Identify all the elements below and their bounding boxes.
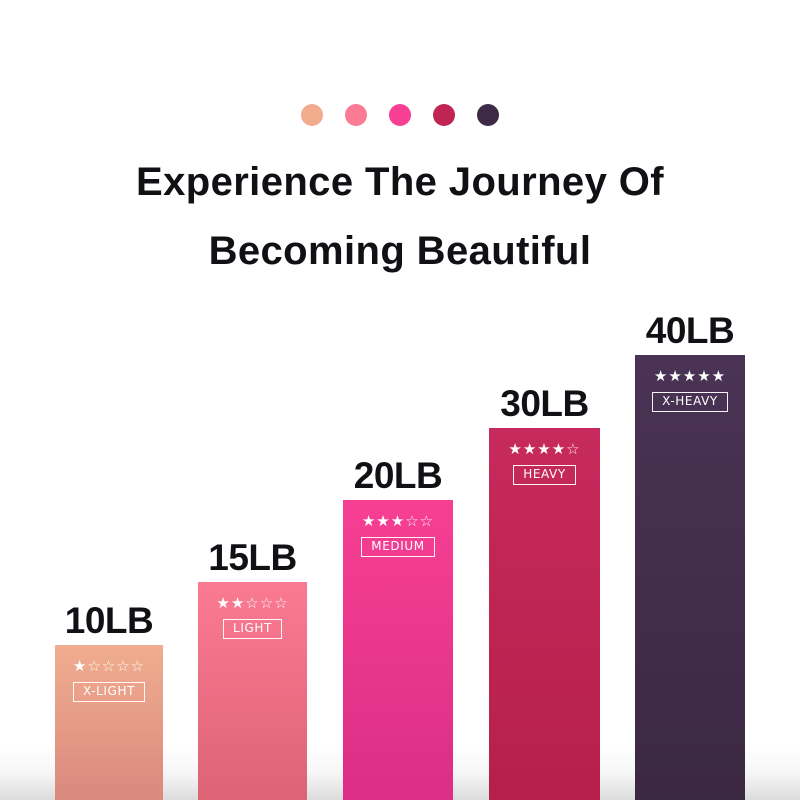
bar-weight-label: 10LB	[55, 599, 163, 643]
resistance-band-bar-chart: 10LB★☆☆☆☆X-LIGHT15LB★★☆☆☆LIGHT20LB★★★☆☆M…	[0, 0, 800, 800]
bar-fill: ★★★★★X-HEAVY	[635, 355, 745, 800]
star-filled-icon: ★	[654, 369, 668, 384]
level-badge-wrap: LIGHT	[198, 619, 307, 639]
star-rating: ★★☆☆☆	[198, 596, 307, 611]
level-badge-wrap: X-LIGHT	[55, 682, 163, 702]
star-filled-icon: ★	[376, 514, 390, 529]
level-badge-wrap: HEAVY	[489, 465, 600, 485]
bar-weight-label: 30LB	[489, 382, 600, 426]
bar-weight-label: 15LB	[198, 536, 307, 580]
star-rating: ★★★☆☆	[343, 514, 453, 529]
star-filled-icon: ★	[231, 596, 245, 611]
level-badge: X-LIGHT	[73, 682, 145, 702]
bar-group-20lb: 20LB★★★☆☆MEDIUM	[343, 500, 453, 800]
star-filled-icon: ★	[216, 596, 230, 611]
bar-group-10lb: 10LB★☆☆☆☆X-LIGHT	[55, 645, 163, 800]
star-filled-icon: ★	[523, 442, 537, 457]
bar-group-40lb: 40LB★★★★★X-HEAVY	[635, 355, 745, 800]
star-rating: ★★★★★	[635, 369, 745, 384]
bar-group-15lb: 15LB★★☆☆☆LIGHT	[198, 582, 307, 800]
level-badge: MEDIUM	[361, 537, 434, 557]
level-badge-wrap: MEDIUM	[343, 537, 453, 557]
bar-fill: ★★★★☆HEAVY	[489, 428, 600, 800]
star-filled-icon: ★	[508, 442, 522, 457]
star-hollow-icon: ☆	[116, 659, 130, 674]
star-hollow-icon: ☆	[566, 442, 580, 457]
star-filled-icon: ★	[552, 442, 566, 457]
bar-group-30lb: 30LB★★★★☆HEAVY	[489, 428, 600, 800]
star-hollow-icon: ☆	[102, 659, 116, 674]
level-badge: X-HEAVY	[652, 392, 728, 412]
bar-fill: ★★☆☆☆LIGHT	[198, 582, 307, 800]
star-hollow-icon: ☆	[260, 596, 274, 611]
bar-weight-label: 20LB	[343, 454, 453, 498]
star-filled-icon: ★	[537, 442, 551, 457]
star-rating: ★☆☆☆☆	[55, 659, 163, 674]
bar-weight-label: 40LB	[635, 309, 745, 353]
level-badge: LIGHT	[223, 619, 282, 639]
star-filled-icon: ★	[683, 369, 697, 384]
star-filled-icon: ★	[697, 369, 711, 384]
star-hollow-icon: ☆	[405, 514, 419, 529]
star-hollow-icon: ☆	[420, 514, 434, 529]
star-hollow-icon: ☆	[274, 596, 288, 611]
star-hollow-icon: ☆	[131, 659, 145, 674]
star-filled-icon: ★	[362, 514, 376, 529]
star-filled-icon: ★	[668, 369, 682, 384]
product-infographic-poster: Experience The Journey Of Becoming Beaut…	[0, 0, 800, 800]
level-badge-wrap: X-HEAVY	[635, 392, 745, 412]
star-rating: ★★★★☆	[489, 442, 600, 457]
level-badge: HEAVY	[513, 465, 576, 485]
bar-fill: ★★★☆☆MEDIUM	[343, 500, 453, 800]
star-filled-icon: ★	[391, 514, 405, 529]
star-hollow-icon: ☆	[87, 659, 101, 674]
star-hollow-icon: ☆	[245, 596, 259, 611]
star-filled-icon: ★	[73, 659, 87, 674]
star-filled-icon: ★	[712, 369, 726, 384]
bar-fill: ★☆☆☆☆X-LIGHT	[55, 645, 163, 800]
